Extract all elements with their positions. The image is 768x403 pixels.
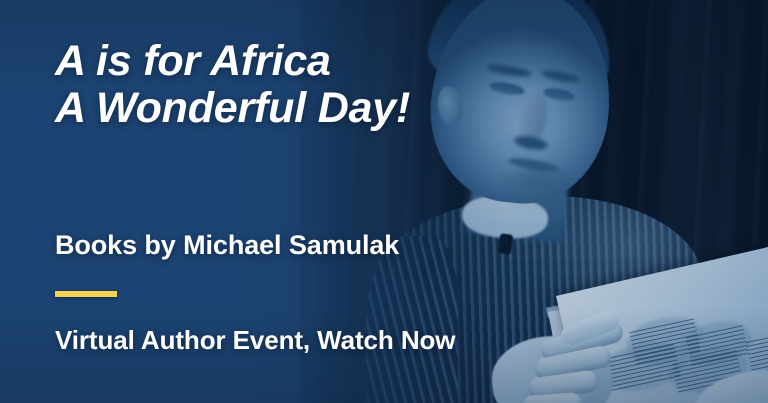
cta-text[interactable]: Virtual Author Event, Watch Now [55, 325, 455, 356]
accent-rule-divider [55, 291, 117, 297]
headline: A is for Africa A Wonderful Day! [55, 38, 410, 132]
subheadline: Books by Michael Samulak [55, 230, 399, 261]
banner-content: A is for Africa A Wonderful Day! Books b… [0, 0, 768, 403]
promo-banner: A is for Africa A Wonderful Day! Books b… [0, 0, 768, 403]
headline-line-1: A is for Africa [55, 38, 410, 85]
headline-line-2: A Wonderful Day! [55, 85, 410, 132]
